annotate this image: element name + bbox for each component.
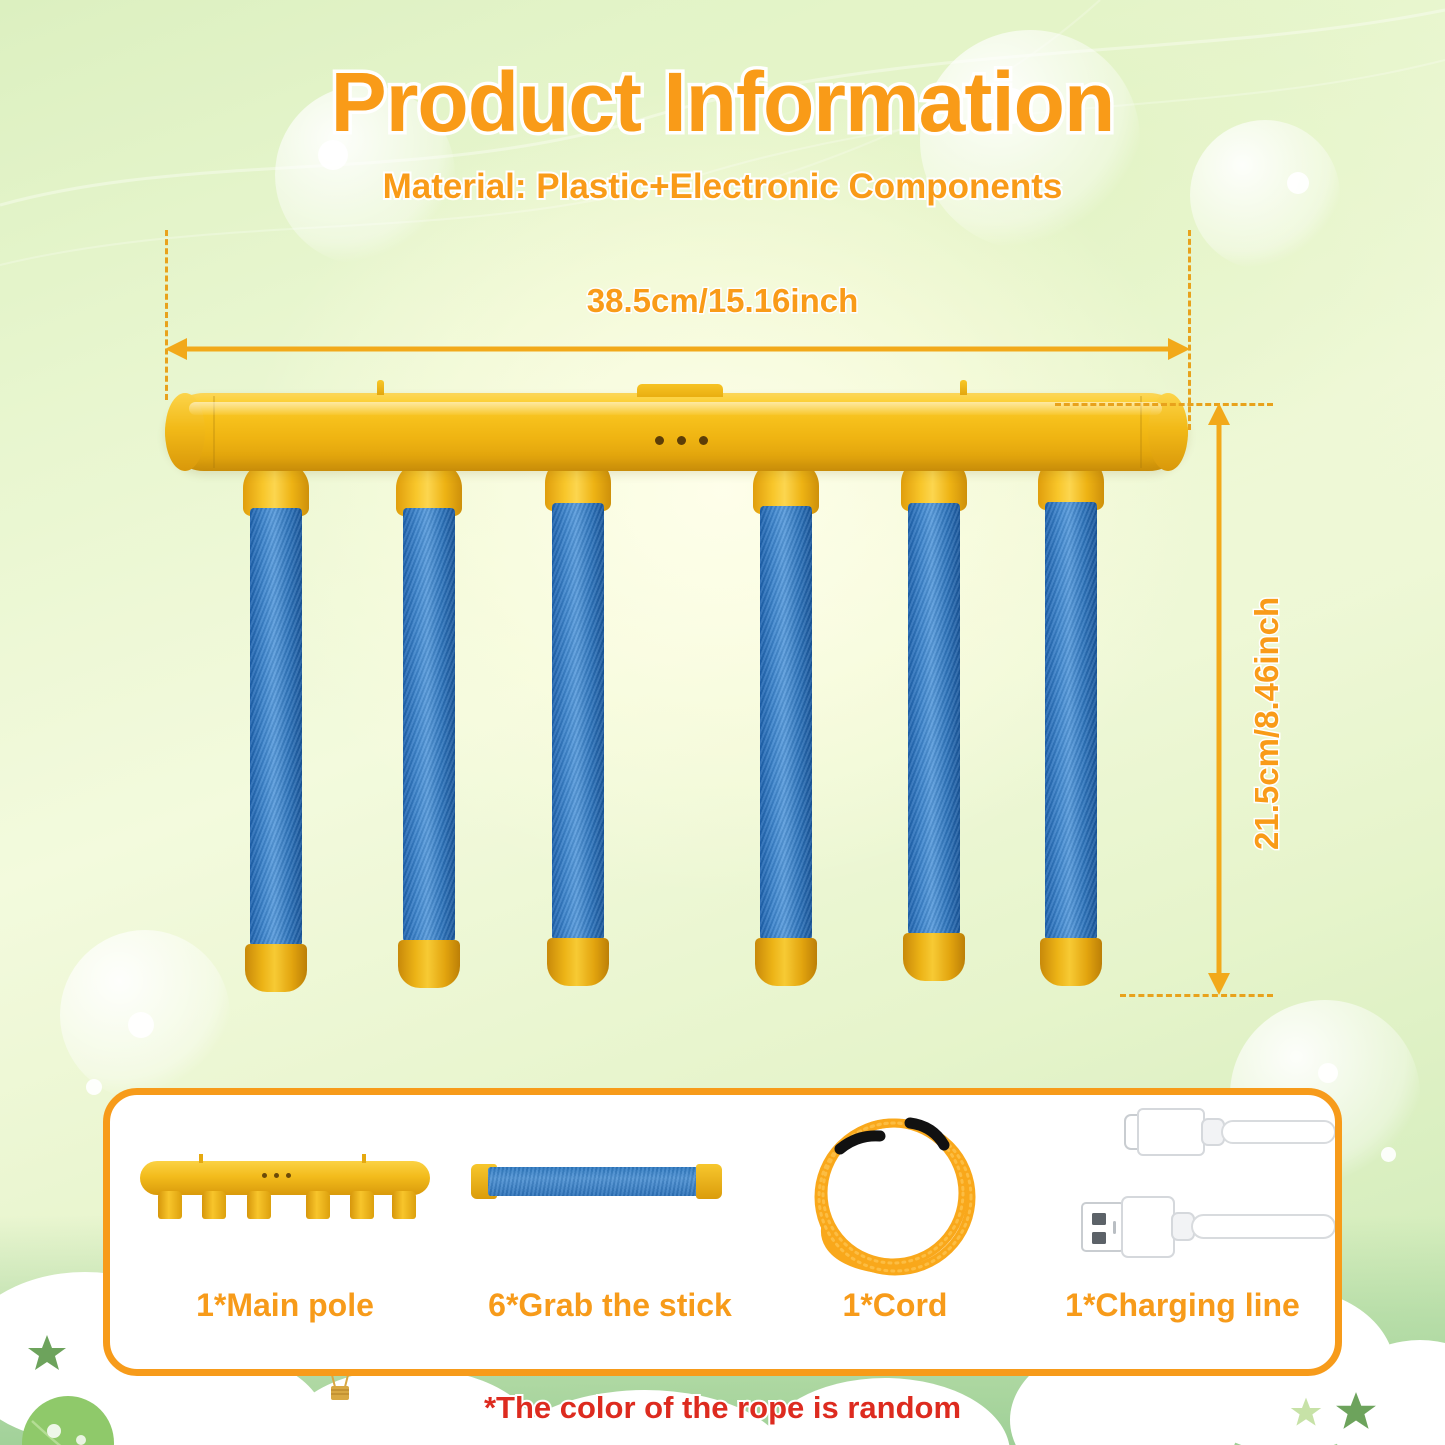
star-icon: [27, 1333, 67, 1378]
stick-foam: [908, 503, 960, 935]
stick-foam: [1045, 502, 1097, 940]
pole-pin: [960, 380, 967, 395]
content-item-charging-line: 1*Charging line: [1030, 1095, 1335, 1369]
mini-led-group: [262, 1173, 291, 1178]
led-indicator: [699, 436, 708, 445]
stick-end-cap: [398, 940, 460, 988]
grab-stick: [1038, 456, 1104, 990]
content-label-main-pole: 1*Main pole: [110, 1287, 460, 1324]
led-indicator: [655, 436, 664, 445]
mini-led: [262, 1173, 267, 1178]
grab-stick-icon: [460, 1105, 760, 1285]
bokeh-dot: [1318, 1063, 1338, 1083]
height-dimension-arrow: [1205, 403, 1233, 1000]
content-label-cord: 1*Cord: [760, 1287, 1030, 1324]
bokeh-dot: [1381, 1147, 1396, 1162]
mini-stick-cap: [696, 1164, 722, 1199]
pole-pin: [377, 380, 384, 395]
stick-foam: [250, 508, 302, 946]
grab-stick: [396, 462, 462, 992]
stick-end-cap: [1040, 938, 1102, 986]
stick-foam: [403, 508, 455, 942]
content-item-grab-stick: 6*Grab the stick: [460, 1095, 760, 1369]
material-subtitle: Material: Plastic+Electronic Components: [0, 167, 1445, 207]
stick-end-cap: [245, 944, 307, 992]
led-indicator-group: [655, 436, 708, 445]
stick-end-cap: [755, 938, 817, 986]
page-title: Product Information: [0, 54, 1445, 151]
mini-pole-nub: [306, 1191, 330, 1219]
mini-pole-nub: [350, 1191, 374, 1219]
stick-foam: [760, 506, 812, 940]
charging-cable-icon: [1030, 1105, 1335, 1285]
content-item-main-pole: 1*Main pole: [110, 1095, 460, 1369]
stick-end-cap: [547, 938, 609, 986]
height-dimension-label: 21.5cm/8.46inch: [1248, 597, 1286, 850]
width-dimension-arrow: [165, 335, 1190, 368]
stick-foam: [552, 503, 604, 940]
cord-icon: [760, 1105, 1030, 1285]
mini-pole-nub: [392, 1191, 416, 1219]
guide-line-bottom-right: [1120, 994, 1273, 997]
main-pole: [165, 393, 1188, 471]
content-label-grab-stick: 6*Grab the stick: [460, 1287, 760, 1324]
grab-stick: [545, 457, 611, 990]
mini-pole-body: [140, 1161, 430, 1195]
grab-stick: [901, 457, 967, 985]
grab-stick: [753, 460, 819, 990]
mini-pole-nub: [247, 1191, 271, 1219]
mini-pole-nub: [202, 1191, 226, 1219]
guide-line-top-right: [1055, 403, 1273, 406]
bokeh-dot: [86, 1079, 102, 1095]
stick-end-cap: [903, 933, 965, 981]
content-item-cord: 1*Cord: [760, 1095, 1030, 1369]
content-label-charging-line: 1*Charging line: [1030, 1287, 1335, 1324]
led-indicator: [677, 436, 686, 445]
mini-led: [286, 1173, 291, 1178]
package-contents-box: 1*Main pole 6*Grab the stick: [103, 1088, 1342, 1376]
pole-top-button: [637, 384, 723, 397]
grab-stick: [243, 462, 309, 996]
mini-pole-pin: [199, 1154, 203, 1163]
pole-highlight: [189, 402, 1162, 415]
mini-pole-nub: [158, 1191, 182, 1219]
rope-color-note: *The color of the rope is random: [0, 1390, 1445, 1426]
mini-stick-foam: [488, 1167, 700, 1196]
guide-line-right: [1188, 230, 1191, 430]
mini-led: [274, 1173, 279, 1178]
main-pole-icon: [110, 1105, 460, 1285]
width-dimension-label: 38.5cm/15.16inch: [0, 282, 1445, 320]
mini-pole-pin: [362, 1154, 366, 1163]
product-information-infographic: Product Information Material: Plastic+El…: [0, 0, 1445, 1445]
